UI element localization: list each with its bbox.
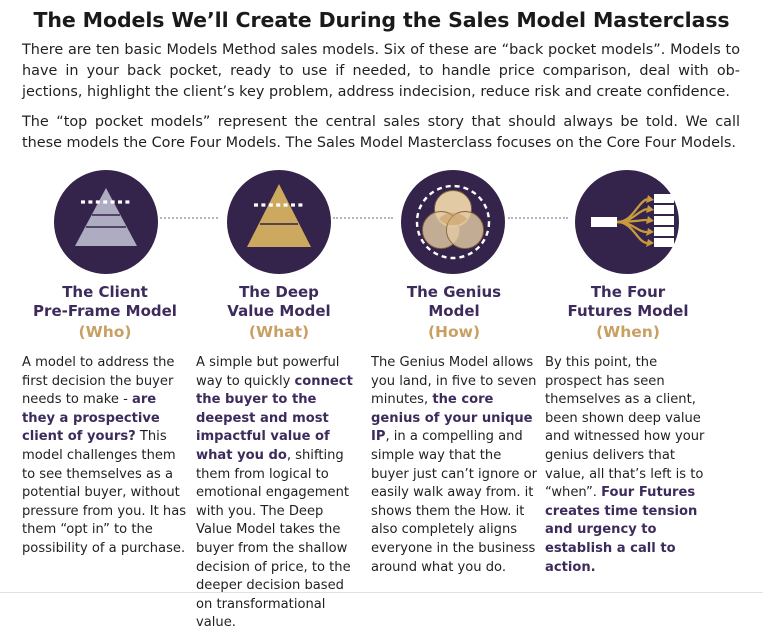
- intro-paragraph-1: There are ten basic Models Method sales …: [22, 40, 740, 103]
- model-heading-2-line-1: The Deep: [196, 283, 362, 302]
- model-subtitle-2: (What): [196, 322, 362, 343]
- three-tier-pyramid-gray-icon: [54, 170, 158, 274]
- intro-paragraph-2: The “top pocket models” represent the ce…: [22, 112, 740, 154]
- two-tier-pyramid-gold-icon: [227, 170, 331, 274]
- model-heading-4-line-2: Futures Model: [545, 302, 711, 321]
- model-heading-1: The Client Pre-Frame Model: [22, 283, 188, 321]
- model-heading-2: The Deep Value Model: [196, 283, 362, 321]
- infographic-page: The Models We’ll Create During the Sales…: [0, 0, 763, 602]
- model-heading-3: The Genius Model: [371, 283, 537, 321]
- model-column-3: The Genius Model (How) The Genius Model …: [371, 283, 537, 577]
- model-heading-1-line-1: The Client: [22, 283, 188, 302]
- page-title: The Models We’ll Create During the Sales…: [0, 8, 763, 32]
- venn-three-circles-icon: [401, 170, 505, 274]
- connector-dotted-line-2: [333, 217, 393, 221]
- model-heading-3-line-1: The Genius: [371, 283, 537, 302]
- model-icon-circle-1: [54, 170, 158, 274]
- model-heading-2-line-2: Value Model: [196, 302, 362, 321]
- model-heading-4: The Four Futures Model: [545, 283, 711, 321]
- model-column-1: The Client Pre-Frame Model (Who) A model…: [22, 283, 188, 559]
- model-heading-4-line-1: The Four: [545, 283, 711, 302]
- fan-out-four-futures-icon: [575, 170, 679, 274]
- model-icon-circle-4: [575, 170, 679, 274]
- model-subtitle-1: (Who): [22, 322, 188, 343]
- model-heading-1-line-2: Pre-Frame Model: [22, 302, 188, 321]
- intro-section: There are ten basic Models Method sales …: [22, 40, 740, 154]
- model-subtitle-4: (When): [545, 322, 711, 343]
- model-icon-circle-3: [401, 170, 505, 274]
- connector-dotted-line-1: [160, 217, 218, 221]
- model-column-2: The Deep Value Model (What) A simple but…: [196, 283, 362, 633]
- model-icon-circle-2: [227, 170, 331, 274]
- model-column-4: The Four Futures Model (When) By this po…: [545, 283, 711, 577]
- model-heading-3-line-2: Model: [371, 302, 537, 321]
- model-body-4: By this point, the prospect has seen the…: [545, 354, 711, 577]
- footer-divider: [0, 592, 763, 593]
- model-body-1: A model to address the first decision th…: [22, 354, 188, 559]
- model-subtitle-3: (How): [371, 322, 537, 343]
- model-body-3: The Genius Model allows you land, in fiv…: [371, 354, 537, 577]
- connector-dotted-line-3: [508, 217, 568, 221]
